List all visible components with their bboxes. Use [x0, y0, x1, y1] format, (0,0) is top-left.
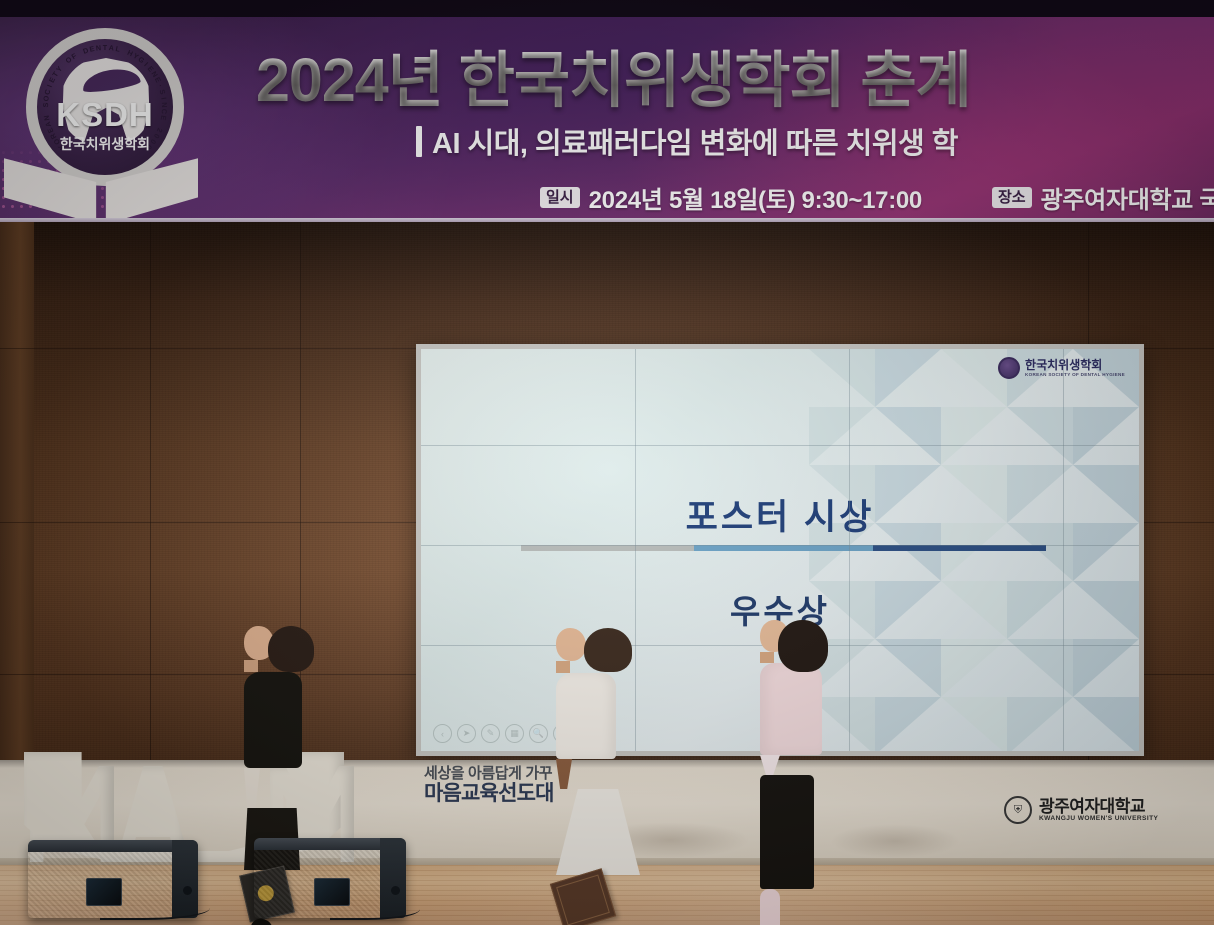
banner-title: 2024년 한국치위생학회 춘계	[256, 30, 971, 119]
recipient-right	[760, 620, 870, 886]
emblem-ring-char: I	[45, 83, 54, 88]
neck	[556, 661, 570, 673]
hair	[268, 626, 314, 672]
emblem-ring-char: ·	[156, 83, 165, 89]
face	[556, 628, 586, 661]
staff-walking-left	[244, 626, 364, 856]
triangle-shape	[809, 407, 875, 465]
emblem-ring-char: T	[103, 43, 108, 52]
emblem-ring-char: N	[95, 43, 101, 53]
emblem-ring-char: S	[158, 88, 168, 95]
trousers	[760, 775, 814, 889]
place-text: 광주여자대학교 국	[1041, 180, 1214, 215]
triangle-shape	[875, 697, 941, 751]
slides-icon[interactable]: ▦	[505, 724, 524, 743]
triangle-shape	[941, 697, 1007, 751]
hair	[584, 628, 632, 672]
neck	[760, 652, 774, 663]
banner-subtitle-row: AI 시대, 의료패러다임 변화에 따른 치위생 학	[416, 120, 958, 162]
slide-society-logo: 한국치위생학회 KOREAN SOCIETY OF DENTAL HYGIENE	[998, 357, 1125, 379]
display-bezel-seam	[421, 545, 1139, 546]
display-bezel-seam	[1063, 349, 1064, 751]
banner-place-row: 장소 광주여자대학교 국	[992, 180, 1214, 215]
society-mark-icon	[998, 357, 1020, 379]
speaker-knob	[391, 886, 400, 895]
subtitle-accent-bar	[416, 126, 422, 157]
emblem-ring-char: E	[89, 44, 96, 54]
pink-shirt	[760, 663, 822, 755]
banner-date-row: 일시 2024년 5월 18일(토) 9:30~17:00	[540, 180, 922, 215]
place-chip: 장소	[992, 187, 1032, 208]
hair	[778, 620, 828, 672]
banner-subtitle: AI 시대, 의료패러다임 변화에 따른 치위생 학	[432, 120, 958, 162]
presenter-toolbar[interactable]: ‹➤✎▦🔍⋯	[433, 724, 572, 743]
slide-title: 포스터 시상	[421, 489, 1139, 540]
triangle-shape	[875, 349, 941, 407]
triangle-shape	[1073, 407, 1139, 465]
prev-icon[interactable]: ‹	[433, 724, 452, 743]
university-name-korean: 광주여자대학교	[1039, 798, 1158, 816]
slogan-line-1: 세상을 아름답게 가꾸	[424, 766, 554, 781]
award-certificate	[550, 868, 616, 925]
ksdh-emblem: KOREAN SOCIETY OF DENTAL HYGIENE·SINCE 2…	[8, 18, 204, 218]
blouse	[556, 673, 616, 759]
triangle-shape	[941, 639, 1007, 697]
display-bezel-seam	[421, 445, 1139, 446]
inner-shirt	[244, 768, 260, 808]
slogan-line-2: 마음교육선도대	[424, 783, 554, 804]
arm	[760, 889, 780, 925]
emblem-korean-name: 한국치위생학회	[26, 134, 184, 154]
zoom-icon[interactable]: 🔍	[529, 724, 548, 743]
pointer-icon[interactable]: ➤	[457, 724, 476, 743]
triangle-shape	[809, 349, 875, 407]
triangle-shape	[941, 407, 1007, 465]
floral-skirt	[556, 789, 640, 875]
emblem-ring-char: L	[115, 44, 121, 54]
triangle-shape	[1073, 697, 1139, 751]
stage-photo: KOREAN SOCIETY OF DENTAL HYGIENE·SINCE 2…	[0, 0, 1214, 925]
university-logo: ⛨ 광주여자대학교 KWANGJU WOMEN'S UNIVERSITY	[1004, 796, 1158, 824]
date-text: 2024년 5월 18일(토) 9:30~17:00	[589, 180, 922, 215]
emblem-ring-char: A	[108, 43, 114, 53]
university-name-english: KWANGJU WOMEN'S UNIVERSITY	[1039, 815, 1158, 822]
speaker-knob	[183, 886, 192, 895]
triangle-shape	[1073, 639, 1139, 697]
neck	[244, 660, 258, 672]
university-seal-icon: ⛨	[1004, 796, 1032, 824]
banner-top-trim	[0, 0, 1214, 17]
scarf	[556, 759, 572, 789]
slide-logo-korean: 한국치위생학회	[1025, 359, 1125, 372]
date-chip: 일시	[540, 187, 580, 208]
emblem-acronym: KSDH	[26, 96, 184, 134]
triangle-shape	[875, 407, 941, 465]
wall-slogan: 세상을 아름답게 가꾸 마음교육선도대	[424, 766, 554, 804]
suit-jacket	[244, 672, 302, 768]
pen-icon[interactable]: ✎	[481, 724, 500, 743]
presenter-center	[556, 628, 686, 884]
slide-logo-english: KOREAN SOCIETY OF DENTAL HYGIENE	[1025, 372, 1125, 377]
collar	[760, 755, 780, 775]
event-banner: KOREAN SOCIETY OF DENTAL HYGIENE·SINCE 2…	[0, 0, 1214, 222]
triangle-shape	[875, 639, 941, 697]
